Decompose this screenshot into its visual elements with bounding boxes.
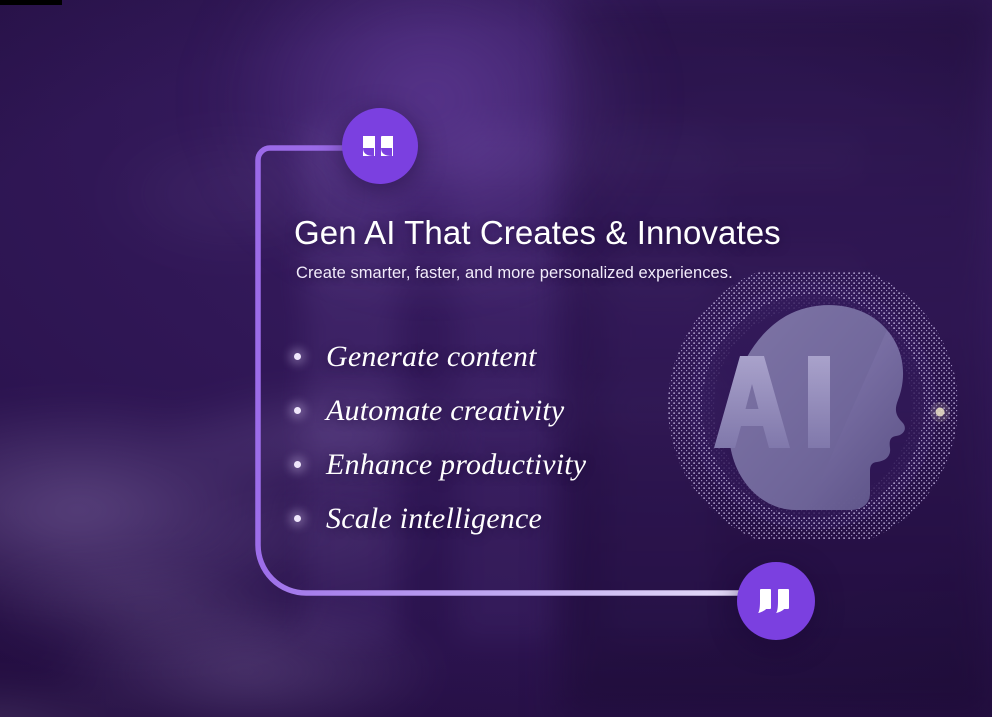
bullet-dot-icon [294, 515, 301, 522]
list-item: Generate content [294, 334, 814, 379]
list-item-label: Generate content [326, 340, 537, 373]
open-quote-glyph [358, 124, 402, 168]
list-item-label: Enhance productivity [326, 448, 586, 481]
slide-content: Gen AI That Creates & Innovates Create s… [294, 210, 814, 550]
close-quote-glyph [754, 579, 798, 623]
list-item-label: Automate creativity [326, 394, 564, 427]
open-quote-icon [342, 108, 418, 184]
bullet-dot-icon [294, 353, 301, 360]
list-item-label: Scale intelligence [326, 502, 542, 535]
list-item: Enhance productivity [294, 442, 814, 487]
bullet-dot-icon [294, 407, 301, 414]
close-quote-icon [737, 562, 815, 640]
bullet-dot-icon [294, 461, 301, 468]
page-title: Gen AI That Creates & Innovates [294, 210, 814, 256]
list-item: Automate creativity [294, 388, 814, 433]
slide-canvas: Gen AI That Creates & Innovates Create s… [0, 0, 992, 717]
list-item: Scale intelligence [294, 496, 814, 541]
feature-list: Generate content Automate creativity Enh… [294, 334, 814, 541]
top-left-strip [0, 0, 62, 5]
page-subtitle: Create smarter, faster, and more persona… [296, 262, 814, 284]
